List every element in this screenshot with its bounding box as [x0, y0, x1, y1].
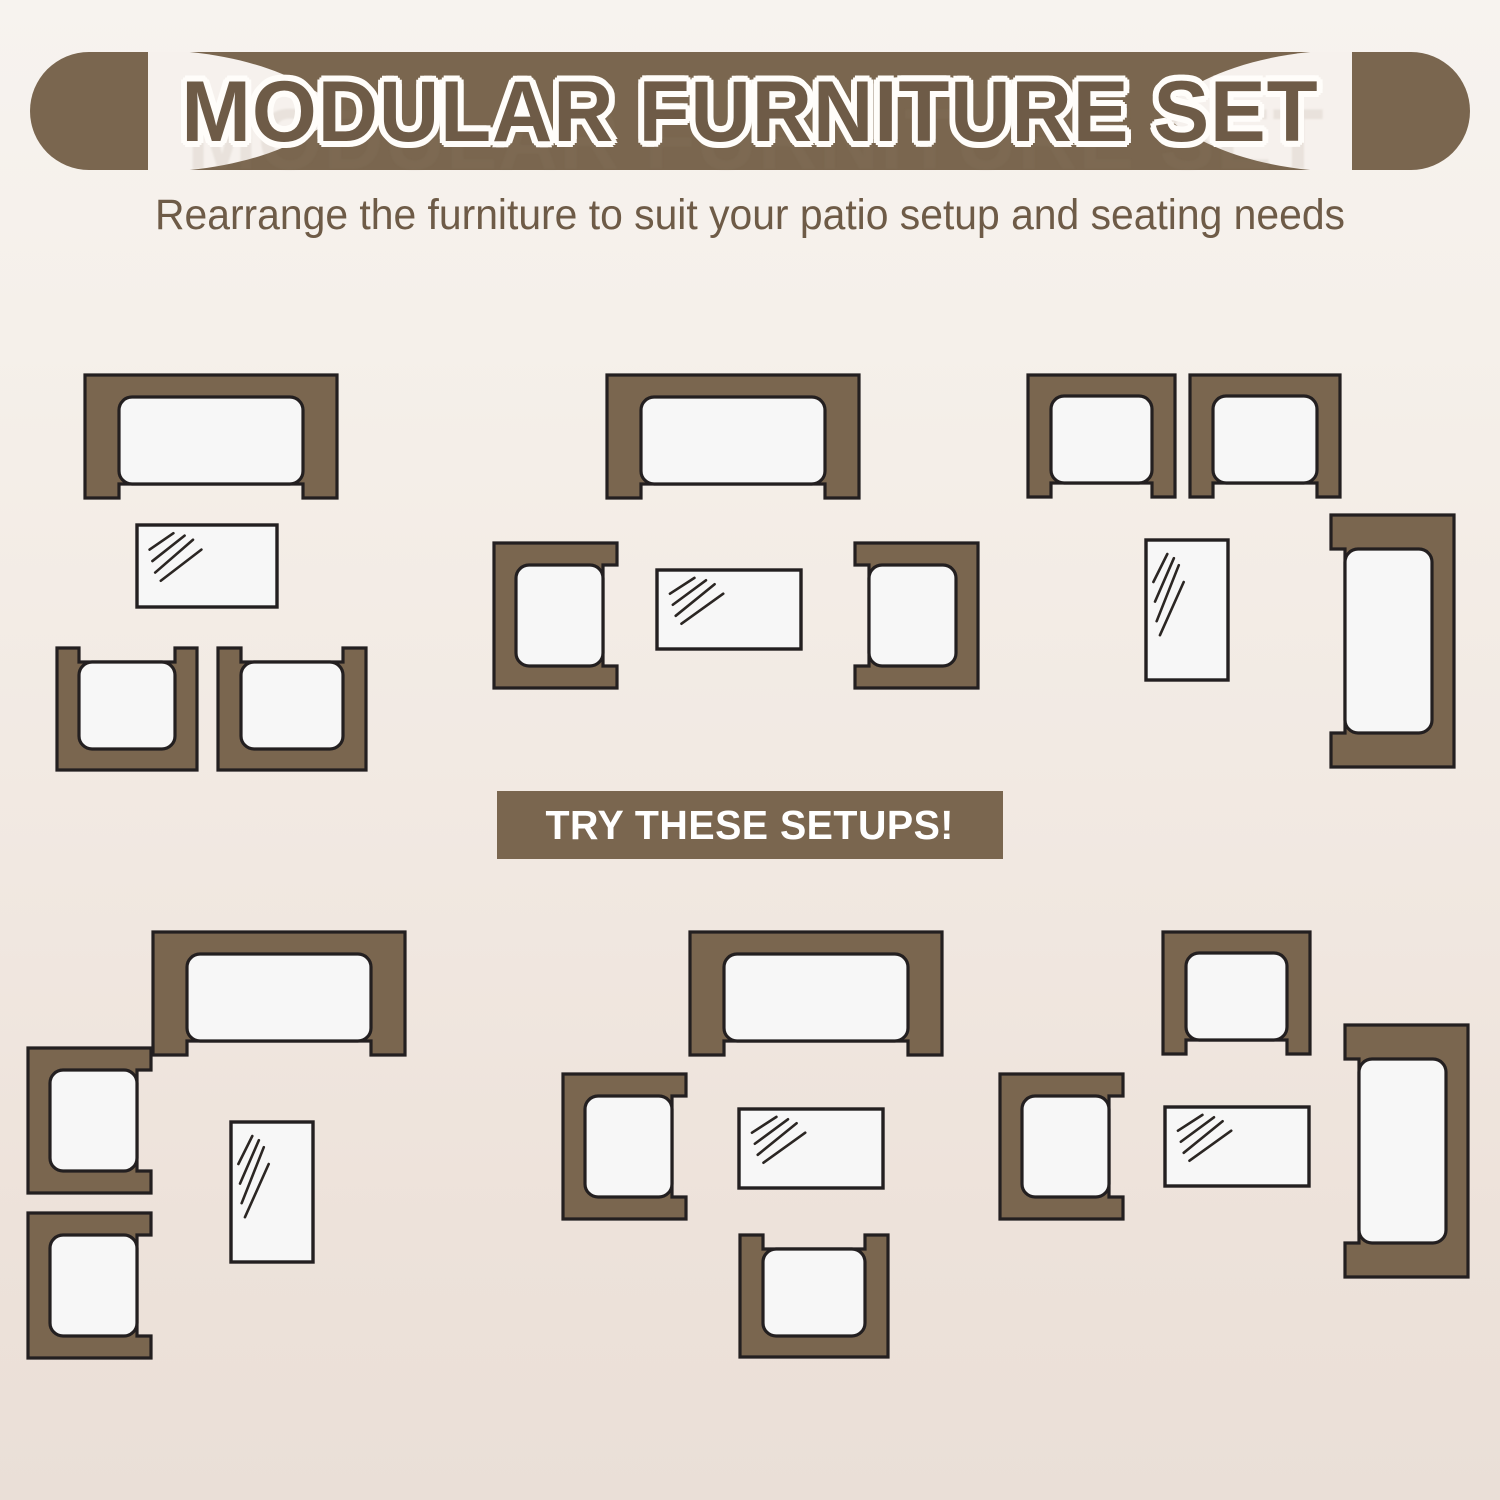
furniture-chair[interactable] — [218, 648, 366, 770]
furniture-sofa[interactable] — [690, 932, 942, 1055]
furniture-chair[interactable] — [28, 1213, 151, 1358]
furniture-sofa[interactable] — [1331, 515, 1454, 767]
furniture-table[interactable] — [657, 570, 801, 649]
furniture-sofa[interactable] — [85, 375, 337, 498]
furniture-sofa[interactable] — [153, 932, 405, 1055]
layout-bottom-left — [28, 932, 405, 1358]
page-subtitle: Rearrange the furniture to suit your pat… — [38, 186, 1463, 244]
furniture-table[interactable] — [1165, 1107, 1309, 1186]
try-these-setups-label: TRY THESE SETUPS! — [546, 803, 954, 847]
layout-top-middle — [494, 375, 978, 688]
try-these-setups-banner: TRY THESE SETUPS! — [497, 791, 1003, 859]
furniture-table[interactable] — [231, 1122, 313, 1262]
page-title: MODULAR FURNITURE SET — [23, 55, 1478, 169]
furniture-chair[interactable] — [1163, 932, 1310, 1054]
layout-bottom-right — [1000, 932, 1468, 1277]
layout-top-right — [1028, 375, 1454, 767]
furniture-sofa[interactable] — [1345, 1025, 1468, 1277]
furniture-chair[interactable] — [855, 543, 978, 688]
furniture-chair[interactable] — [740, 1235, 888, 1357]
layout-bottom-middle — [563, 932, 942, 1357]
furniture-chair[interactable] — [28, 1048, 151, 1193]
furniture-chair[interactable] — [1190, 375, 1340, 497]
furniture-chair[interactable] — [563, 1074, 686, 1219]
furniture-table[interactable] — [1146, 540, 1228, 680]
layout-top-left — [57, 375, 366, 770]
furniture-table[interactable] — [739, 1109, 883, 1188]
furniture-chair[interactable] — [1000, 1074, 1123, 1219]
furniture-chair[interactable] — [57, 648, 197, 770]
header-banner: MODULAR FURNITURE SET Rearrange the furn… — [0, 0, 1500, 190]
furniture-sofa[interactable] — [607, 375, 859, 498]
furniture-table[interactable] — [137, 525, 277, 607]
furniture-chair[interactable] — [494, 543, 617, 688]
furniture-chair[interactable] — [1028, 375, 1175, 497]
